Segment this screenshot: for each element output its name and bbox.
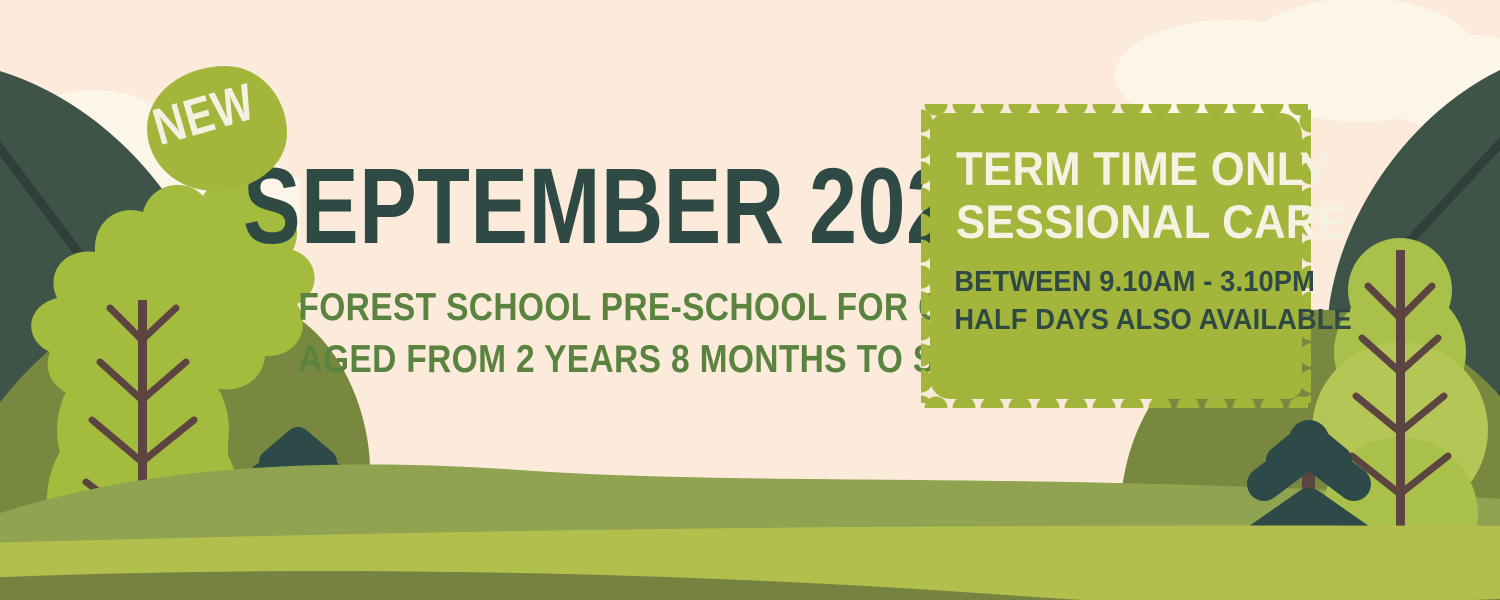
info-card-heading-line-1: TERM TIME ONLY xyxy=(956,143,1276,196)
info-card-spacer xyxy=(944,248,1288,264)
page-title: SEPTEMBER 2025 xyxy=(243,152,1003,260)
new-badge: NEW xyxy=(147,66,287,191)
subtitle-block: FOREST SCHOOL PRE-SCHOOL FOR CHILDREN AG… xyxy=(255,282,875,387)
promo-banner: NEW SEPTEMBER 2025 FOREST SCHOOL PRE-SCH… xyxy=(0,0,1500,600)
info-card: TERM TIME ONLY SESSIONAL CARE BETWEEN 9.… xyxy=(930,113,1302,399)
card-edge-left xyxy=(921,109,937,403)
subtitle-line-1: FOREST SCHOOL PRE-SCHOOL FOR CHILDREN xyxy=(298,282,831,334)
info-card-detail-line-1: BETWEEN 9.10AM - 3.10PM xyxy=(954,264,1277,302)
info-card-heading-line-2: SESSIONAL CARE xyxy=(956,196,1276,249)
subtitle-line-2: AGED FROM 2 YEARS 8 MONTHS TO SCHOOL xyxy=(298,334,831,386)
info-card-detail-line-2: HALF DAYS ALSO AVAILABLE xyxy=(954,302,1277,340)
